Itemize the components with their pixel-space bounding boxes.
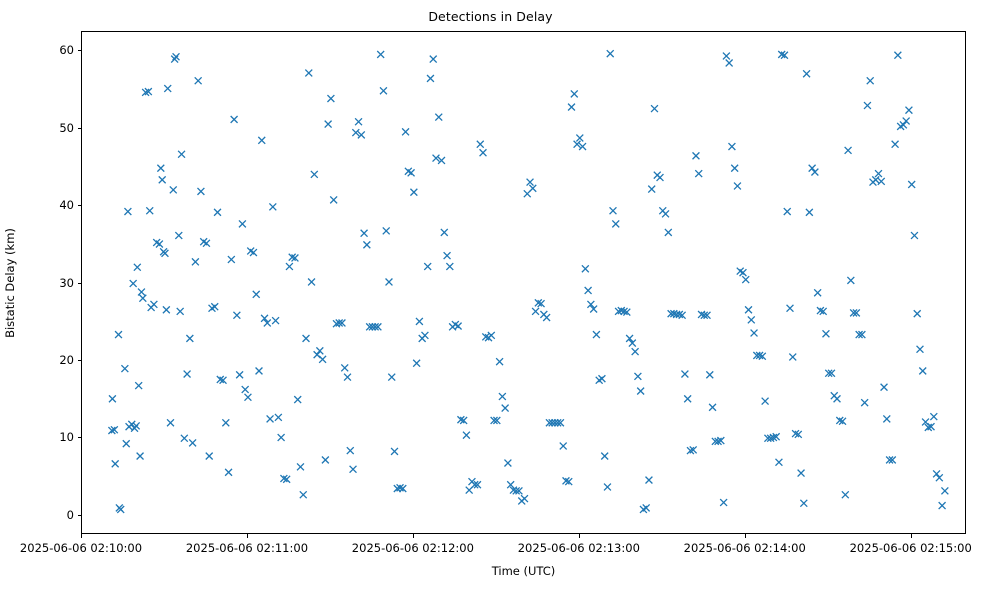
- scatter-point: [809, 165, 816, 172]
- scatter-point: [593, 331, 600, 338]
- scatter-point: [900, 121, 907, 128]
- scatter-point: [109, 395, 116, 402]
- y-tick-mark: [78, 128, 82, 129]
- scatter-point: [784, 208, 791, 215]
- scatter-point: [789, 354, 796, 361]
- x-tick-label: 2025-06-06 02:14:00: [684, 541, 806, 555]
- scatter-point: [130, 280, 137, 287]
- scatter-point: [316, 347, 323, 354]
- scatter-point: [294, 396, 301, 403]
- scatter-point: [159, 176, 166, 183]
- scatter-point: [197, 188, 204, 195]
- scatter-point: [228, 256, 235, 263]
- y-axis-label: Bistatic Delay (km): [0, 31, 20, 534]
- scatter-point: [892, 141, 899, 148]
- scatter-point: [430, 56, 437, 63]
- scatter-point: [242, 386, 249, 393]
- scatter-point: [123, 440, 130, 447]
- y-tick-mark: [78, 360, 82, 361]
- scatter-point: [239, 220, 246, 227]
- scatter-point: [275, 414, 282, 421]
- y-tick-mark: [78, 205, 82, 206]
- scatter-point: [175, 232, 182, 239]
- scatter-point: [134, 264, 141, 271]
- scatter-point: [463, 432, 470, 439]
- x-tick-mark: [579, 534, 580, 538]
- scatter-point: [137, 453, 144, 460]
- scatter-point: [709, 404, 716, 411]
- scatter-point: [726, 60, 733, 67]
- scatter-point: [225, 469, 232, 476]
- scatter-point: [814, 289, 821, 296]
- scatter-point: [344, 374, 351, 381]
- scatter-point: [383, 227, 390, 234]
- x-tick-mark: [247, 534, 248, 538]
- y-tick-label: 50: [33, 121, 74, 135]
- scatter-point: [427, 75, 434, 82]
- scatter-point: [496, 358, 503, 365]
- scatter-point: [203, 240, 210, 247]
- scatter-point: [582, 265, 589, 272]
- scatter-point: [734, 183, 741, 190]
- scatter-point: [444, 252, 451, 259]
- scatter-point: [878, 178, 885, 185]
- y-tick-mark: [78, 515, 82, 516]
- scatter-point: [206, 453, 213, 460]
- scatter-point: [322, 456, 329, 463]
- scatter-point: [637, 388, 644, 395]
- scatter-point: [195, 77, 202, 84]
- scatter-point: [598, 375, 605, 382]
- scatter-point: [861, 399, 868, 406]
- scatter-point: [684, 395, 691, 402]
- scatter-point: [571, 90, 578, 97]
- scatter-point: [834, 395, 841, 402]
- scatter-point: [170, 186, 177, 193]
- scatter-point: [377, 51, 384, 58]
- scatter-point: [363, 241, 370, 248]
- scatter-point: [775, 459, 782, 466]
- x-tick-label: 2025-06-06 02:10:00: [20, 541, 142, 555]
- scatter-point: [914, 310, 921, 317]
- scatter-point: [720, 499, 727, 506]
- scatter-point: [695, 170, 702, 177]
- scatter-point: [361, 230, 368, 237]
- scatter-point: [138, 289, 145, 296]
- scatter-point: [585, 287, 592, 294]
- scatter-point: [905, 107, 912, 114]
- scatter-point: [211, 303, 218, 310]
- x-tick-label: 2025-06-06 02:13:00: [518, 541, 640, 555]
- scatter-point: [806, 209, 813, 216]
- scatter-point: [355, 118, 362, 125]
- scatter-point: [936, 474, 943, 481]
- scatter-point: [305, 70, 312, 77]
- scatter-point: [748, 316, 755, 323]
- scatter-point: [121, 365, 128, 372]
- x-tick-mark: [81, 534, 82, 538]
- x-tick-mark: [413, 534, 414, 538]
- scatter-point: [139, 295, 146, 302]
- scatter-point: [341, 364, 348, 371]
- scatter-point: [181, 435, 188, 442]
- scatter-point: [864, 102, 871, 109]
- y-axis-label-text: Bistatic Delay (km): [3, 228, 17, 338]
- scatter-point: [842, 491, 849, 498]
- y-tick-label: 0: [33, 508, 74, 522]
- scatter-point: [435, 114, 442, 121]
- scatter-point: [269, 203, 276, 210]
- scatter-point: [308, 279, 315, 286]
- scatter-point: [568, 104, 575, 111]
- y-tick-label: 10: [33, 430, 74, 444]
- scatter-point: [762, 398, 769, 405]
- scatter-point: [416, 318, 423, 325]
- scatter-point: [173, 53, 180, 60]
- scatter-point: [706, 371, 713, 378]
- scatter-point: [244, 394, 251, 401]
- scatter-point: [576, 135, 583, 142]
- x-tick-mark: [745, 534, 746, 538]
- scatter-points-layer: [82, 32, 966, 534]
- scatter-point: [311, 171, 318, 178]
- scatter-point: [648, 186, 655, 193]
- scatter-point: [693, 152, 700, 159]
- scatter-point: [272, 317, 279, 324]
- scatter-point: [798, 470, 805, 477]
- scatter-point: [939, 502, 946, 509]
- scatter-point: [740, 269, 747, 276]
- scatter-point: [424, 263, 431, 270]
- plot-area: [81, 31, 966, 534]
- scatter-point: [410, 189, 417, 196]
- scatter-point: [845, 147, 852, 154]
- scatter-point: [184, 371, 191, 378]
- scatter-point: [156, 241, 163, 248]
- scatter-point: [610, 207, 617, 214]
- scatter-point: [872, 176, 879, 183]
- scatter-point: [477, 141, 484, 148]
- scatter-point: [236, 371, 243, 378]
- scatter-point: [177, 308, 184, 315]
- scatter-point: [651, 105, 658, 112]
- scatter-point: [146, 207, 153, 214]
- scatter-point: [917, 346, 924, 353]
- y-tick-label: 30: [33, 276, 74, 290]
- x-tick-label: 2025-06-06 02:12:00: [352, 541, 474, 555]
- scatter-point: [941, 487, 948, 494]
- scatter-point: [421, 332, 428, 339]
- scatter-point: [643, 504, 650, 511]
- scatter-point: [607, 50, 614, 57]
- scatter-point: [903, 118, 910, 125]
- scatter-point: [250, 249, 257, 256]
- scatter-point: [267, 415, 274, 422]
- scatter-point: [930, 413, 937, 420]
- scatter-point: [124, 208, 131, 215]
- scatter-point: [881, 384, 888, 391]
- scatter-point: [135, 382, 142, 389]
- scatter-point: [751, 330, 758, 337]
- scatter-point: [157, 165, 164, 172]
- scatter-point: [601, 453, 608, 460]
- scatter-point: [189, 439, 196, 446]
- scatter-point: [441, 229, 448, 236]
- x-axis-label: Time (UTC): [81, 564, 966, 578]
- scatter-point: [665, 229, 672, 236]
- scatter-point: [167, 419, 174, 426]
- scatter-point: [787, 305, 794, 312]
- scatter-point: [560, 443, 567, 450]
- scatter-point: [303, 335, 310, 342]
- scatter-point: [413, 360, 420, 367]
- scatter-point: [612, 220, 619, 227]
- scatter-point: [604, 484, 611, 491]
- scatter-point: [286, 263, 293, 270]
- matplotlib-figure: Detections in Delay Bistatic Delay (km) …: [0, 0, 981, 590]
- scatter-point: [911, 232, 918, 239]
- scatter-point: [297, 463, 304, 470]
- scatter-point: [386, 279, 393, 286]
- scatter-point: [300, 491, 307, 498]
- scatter-point: [391, 448, 398, 455]
- scatter-point: [178, 151, 185, 158]
- scatter-point: [388, 374, 395, 381]
- scatter-point: [150, 301, 157, 308]
- scatter-point: [278, 434, 285, 441]
- scatter-point: [163, 306, 170, 313]
- scatter-point: [488, 332, 495, 339]
- scatter-point: [803, 70, 810, 77]
- scatter-point: [214, 209, 221, 216]
- scatter-point: [894, 52, 901, 59]
- scatter-point: [408, 169, 415, 176]
- scatter-point: [325, 121, 332, 128]
- scatter-point: [681, 371, 688, 378]
- scatter-point: [521, 495, 528, 502]
- scatter-point: [192, 258, 199, 265]
- scatter-point: [731, 165, 738, 172]
- x-tick-label: 2025-06-06 02:11:00: [186, 541, 308, 555]
- scatter-point: [883, 415, 890, 422]
- scatter-point: [480, 149, 487, 156]
- scatter-point: [646, 477, 653, 484]
- scatter-point: [723, 53, 730, 60]
- y-tick-mark: [78, 283, 82, 284]
- scatter-point: [380, 87, 387, 94]
- scatter-point: [330, 196, 337, 203]
- y-tick-label: 40: [33, 198, 74, 212]
- scatter-point: [742, 276, 749, 283]
- scatter-point: [504, 460, 511, 467]
- scatter-point: [529, 185, 536, 192]
- scatter-point: [634, 373, 641, 380]
- scatter-point: [499, 393, 506, 400]
- scatter-point: [811, 169, 818, 176]
- x-tick-label: 2025-06-06 02:15:00: [850, 541, 972, 555]
- y-tick-label: 60: [33, 43, 74, 57]
- scatter-point: [455, 323, 462, 330]
- scatter-point: [171, 56, 178, 63]
- scatter-point: [662, 210, 669, 217]
- scatter-point: [253, 291, 260, 298]
- scatter-point: [875, 170, 882, 177]
- scatter-point: [186, 335, 193, 342]
- scatter-point: [446, 263, 453, 270]
- scatter-point: [847, 277, 854, 284]
- scatter-point: [112, 460, 119, 467]
- y-tick-label: 20: [33, 353, 74, 367]
- scatter-point: [231, 116, 238, 123]
- scatter-point: [745, 306, 752, 313]
- scatter-point: [919, 367, 926, 374]
- scatter-point: [728, 143, 735, 150]
- scatter-point: [800, 500, 807, 507]
- scatter-point: [327, 95, 334, 102]
- scatter-point: [502, 405, 509, 412]
- scatter-point: [233, 312, 240, 319]
- scatter-point: [258, 137, 265, 144]
- scatter-point: [319, 356, 326, 363]
- y-tick-mark: [78, 437, 82, 438]
- scatter-point: [164, 85, 171, 92]
- scatter-point: [222, 419, 229, 426]
- scatter-point: [115, 331, 122, 338]
- scatter-point: [867, 77, 874, 84]
- scatter-point: [632, 348, 639, 355]
- scatter-point: [908, 181, 915, 188]
- scatter-point: [402, 128, 409, 135]
- scatter-point: [350, 466, 357, 473]
- scatter-point: [543, 314, 550, 321]
- x-tick-mark: [911, 534, 912, 538]
- scatter-point: [823, 330, 830, 337]
- scatter-point: [256, 367, 263, 374]
- scatter-point: [347, 447, 354, 454]
- scatter-point: [532, 308, 539, 315]
- y-tick-mark: [78, 50, 82, 51]
- chart-title: Detections in Delay: [0, 9, 981, 24]
- scatter-point: [933, 470, 940, 477]
- scatter-point: [527, 179, 534, 186]
- scatter-point: [657, 174, 664, 181]
